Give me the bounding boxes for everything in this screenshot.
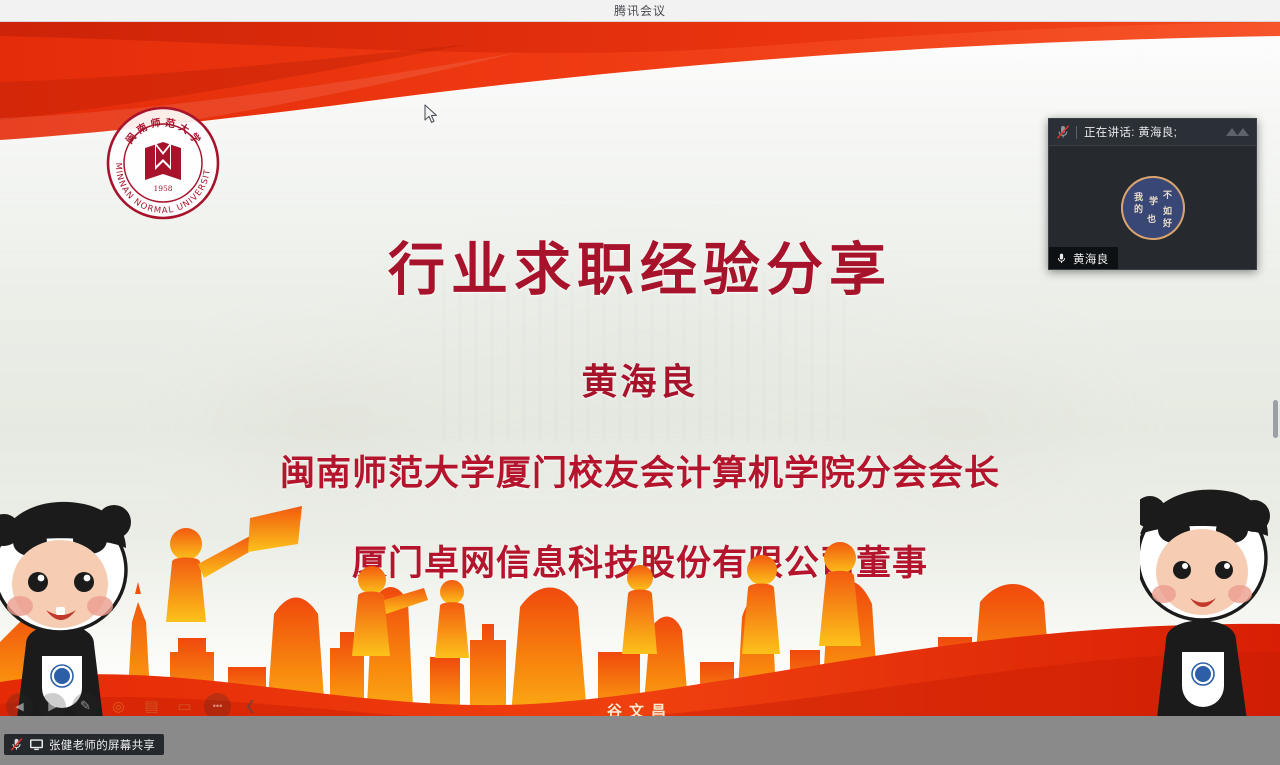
svg-text:也: 也 [1147, 213, 1156, 225]
chevron-left-small-icon: ❮ [245, 698, 256, 714]
svg-text:好: 好 [1162, 217, 1172, 229]
video-tile-body[interactable]: 我的 学不 如也 好 黄海良 [1049, 146, 1256, 270]
video-tile-header: 正在讲话: 黄海良; [1049, 119, 1256, 146]
participant-name-label: 黄海良 [1073, 251, 1109, 267]
participant-name-badge: 黄海良 [1049, 247, 1118, 270]
speaking-status-label: 正在讲话: 黄海良; [1084, 124, 1177, 140]
chevron-left-icon: ◀ [15, 700, 23, 713]
panda-mascot-right [1140, 462, 1280, 727]
svg-text:学: 学 [1149, 195, 1158, 207]
screen-share-icon[interactable] [29, 738, 44, 751]
letterbox-area [0, 716, 1280, 765]
slide-speaker-name: 黄海良 [0, 353, 1280, 405]
participant-video-tile[interactable]: 正在讲话: 黄海良; 我的 学不 如也 好 [1048, 118, 1257, 270]
window-title: 腾讯会议 [614, 2, 666, 19]
svg-text:我: 我 [1134, 191, 1143, 203]
panel-resize-handle[interactable] [1273, 400, 1278, 438]
microphone-muted-icon [1055, 124, 1071, 140]
ellipsis-icon: ••• [213, 701, 222, 711]
chevron-right-icon: ▶ [48, 700, 56, 713]
svg-text:不: 不 [1163, 190, 1172, 201]
laser-pointer-icon: ◎ [112, 698, 124, 715]
window-title-bar: 腾讯会议 [0, 0, 1280, 22]
mouse-pointer [424, 104, 438, 124]
svg-text:的: 的 [1134, 203, 1143, 215]
screen-share-label: 张健老师的屏幕共享 [49, 737, 155, 753]
university-logo: 1958 闽 南 师 范 大 学 MINNAN NORMAL UNIVERSIT… [100, 104, 226, 222]
screen-share-viewport: 1958 闽 南 师 范 大 学 MINNAN NORMAL UNIVERSIT… [0, 22, 1280, 727]
grid-slides-icon: ▤ [144, 697, 158, 715]
magnifier-icon: ▭ [177, 697, 191, 715]
bottom-decorative-artwork [0, 452, 1280, 727]
svg-text:1958: 1958 [153, 184, 172, 193]
participant-avatar: 我的 学不 如也 好 [1121, 176, 1185, 240]
double-chevron-collapse-icon[interactable] [1222, 123, 1252, 141]
microphone-muted-icon[interactable] [9, 737, 24, 752]
pen-icon: ✎ [80, 698, 91, 714]
microphone-icon [1055, 252, 1068, 265]
screen-share-status-bar[interactable]: 张健老师的屏幕共享 [4, 734, 164, 755]
svg-text:如: 如 [1163, 205, 1172, 217]
header-divider [1076, 126, 1077, 139]
